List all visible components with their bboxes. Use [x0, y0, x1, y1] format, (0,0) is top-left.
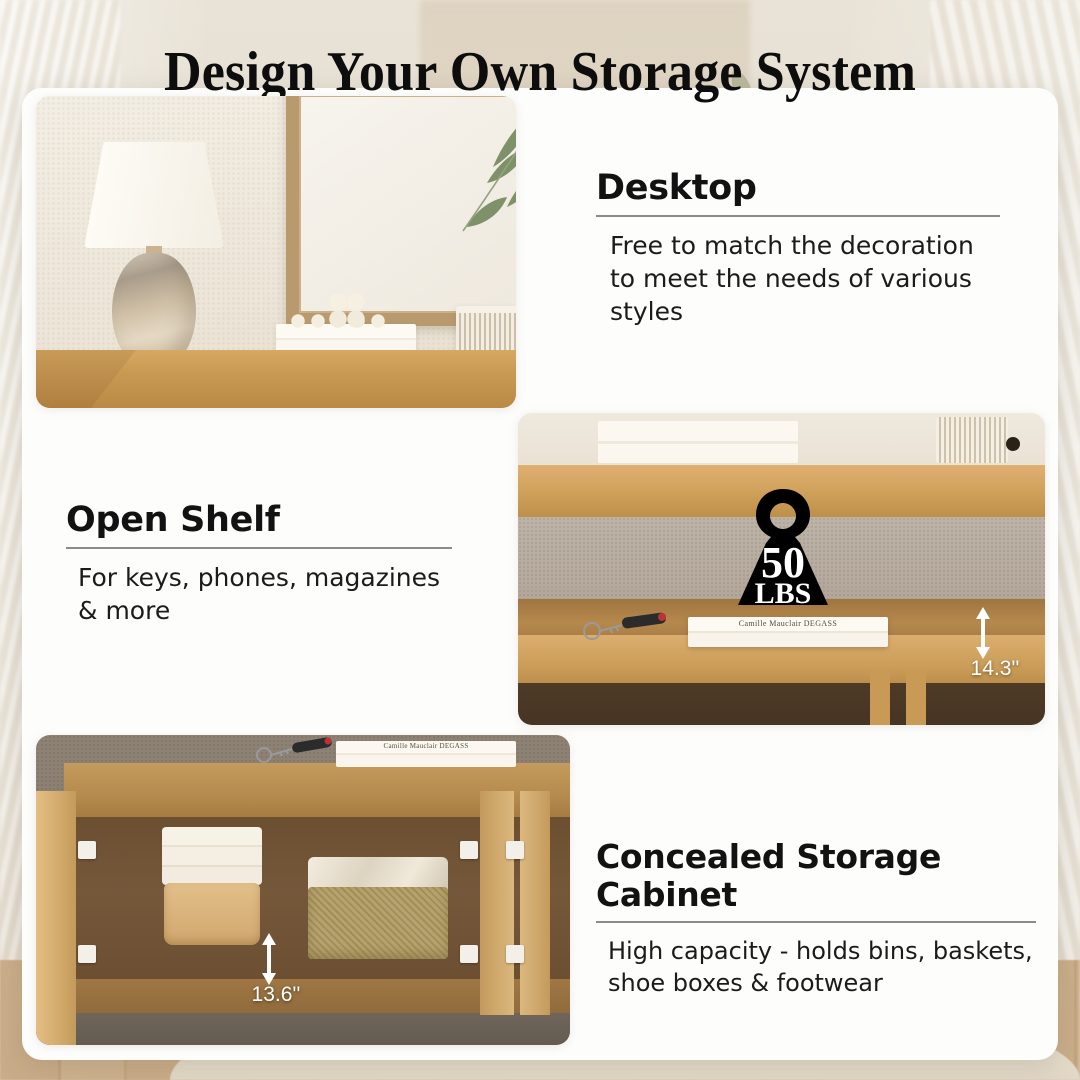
weight-unit-text: LBS — [755, 577, 812, 610]
dimension-label: 13.6'' — [228, 983, 324, 1007]
hinge-icon — [78, 945, 96, 963]
hinge-icon — [460, 945, 478, 963]
photo-open-shelf: Camille Mauclair DEGASS 50 LBS 14.3'' — [518, 413, 1045, 725]
hinge-icon — [460, 841, 478, 859]
cabinet-top-books: Camille Mauclair DEGASS — [336, 741, 516, 767]
feature-concealed-storage: Concealed Storage Cabinet High capacity … — [596, 838, 1044, 999]
page-title: Design Your Own Storage System — [38, 40, 1042, 104]
shelf-books: Camille Mauclair DEGASS — [688, 617, 888, 647]
top-books — [598, 421, 798, 463]
top-jar — [936, 417, 1008, 463]
hinge-icon — [506, 841, 524, 859]
lamp-shade — [84, 142, 224, 248]
jar-knob — [1006, 437, 1020, 451]
wall-mirror — [286, 96, 516, 326]
woven-storage-bin — [308, 887, 448, 959]
table-leg-left — [870, 669, 890, 725]
dimension-shelf-clearance: 14.3'' — [950, 607, 1040, 695]
weight-badge-icon: 50 LBS — [728, 485, 838, 613]
keys-icon — [566, 609, 696, 645]
heading-divider — [596, 921, 1036, 923]
photo-storage-cabinet: Camille Mauclair DEGASS 13.6'' — [36, 735, 570, 1045]
leaf-icon — [433, 101, 516, 251]
dimension-cabinet-clearance: 13.6'' — [228, 933, 324, 1019]
feature-heading: Open Shelf — [66, 500, 458, 540]
lamp-base — [112, 253, 196, 365]
hinge-icon — [506, 945, 524, 963]
feature-desktop: Desktop Free to match the decoration to … — [596, 168, 1006, 328]
cabinet-door-left — [36, 791, 76, 1045]
feature-body: High capacity - holds bins, baskets, sho… — [596, 935, 1044, 999]
infographic-stage: Design Your Own Storage System — [0, 0, 1080, 1080]
double-arrow-icon — [974, 607, 992, 659]
console-tabletop — [36, 350, 516, 408]
hinge-icon — [78, 841, 96, 859]
photo-desktop — [36, 96, 516, 408]
book-spine-text: Camille Mauclair DEGASS — [336, 742, 516, 750]
feature-open-shelf: Open Shelf For keys, phones, magazines &… — [66, 500, 458, 627]
feature-body: Free to match the decoration to meet the… — [596, 229, 1006, 328]
feature-body: For keys, phones, magazines & more — [66, 561, 458, 627]
feature-heading: Desktop — [596, 168, 1006, 208]
book-spine-text: Camille Mauclair DEGASS — [688, 619, 888, 628]
feature-heading: Concealed Storage Cabinet — [596, 838, 1044, 914]
heading-divider — [66, 547, 452, 549]
folded-towels — [162, 827, 262, 885]
bubble-candle — [326, 292, 376, 330]
double-arrow-icon — [260, 933, 278, 985]
table-leg-right — [906, 669, 926, 725]
heading-divider — [596, 215, 1000, 217]
cabinet-door-right-inner — [480, 791, 514, 1015]
cabinet-door-right-outer — [520, 791, 550, 1015]
dimension-label: 14.3'' — [950, 657, 1040, 681]
